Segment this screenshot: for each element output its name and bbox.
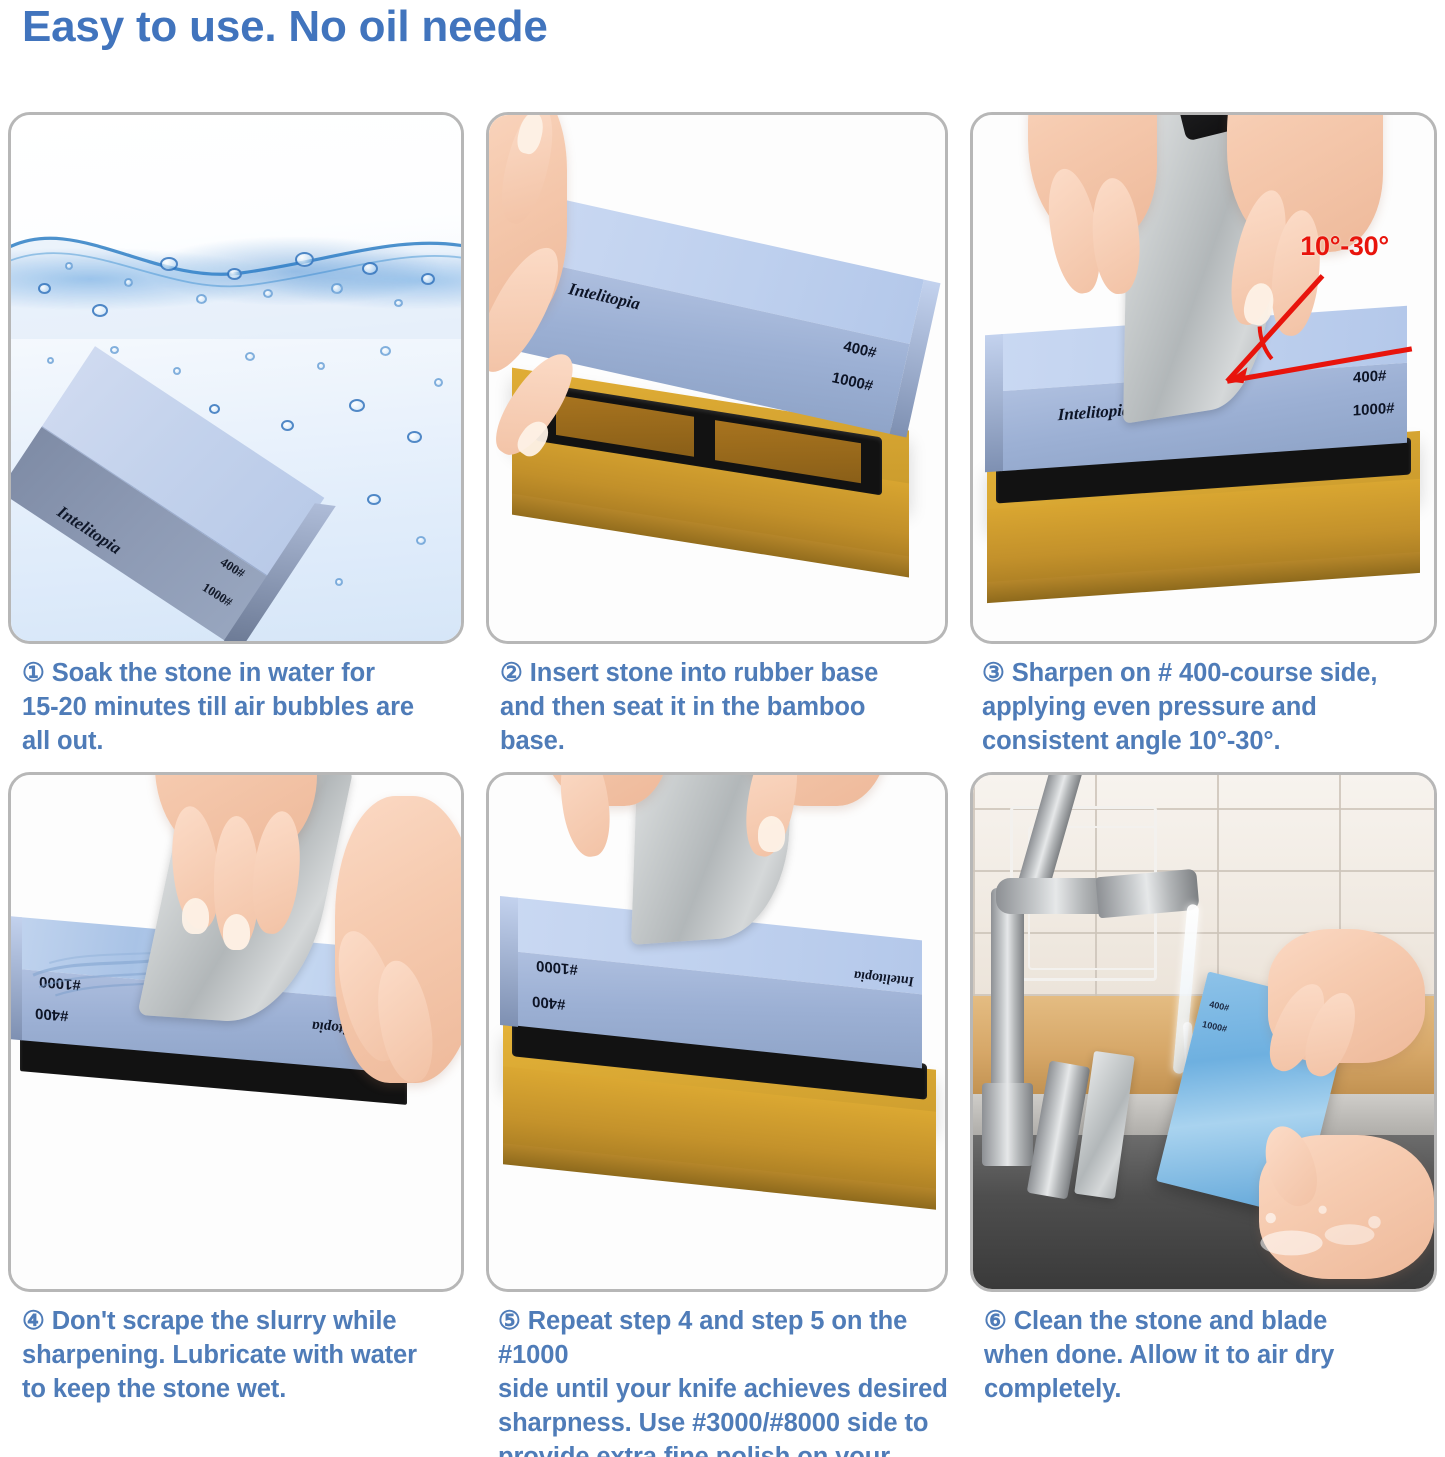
step-image-3: Intelitopia 400# 1000# [970,112,1437,644]
step-image-5: #1000 #400 Intelitopia [486,772,948,1292]
grit-coarse-label: #400 [533,992,566,1013]
step-caption-2: ② Insert stone into rubber base and then… [500,657,952,759]
page-title: Easy to use. No oil neede [22,2,548,52]
step-image-2: Intelitopia 400# 1000# [486,112,948,644]
sink-scene: 400# 1000# [973,775,1434,1289]
grit-fine-label: 1000# [1202,1019,1229,1034]
step-caption-3: ③ Sharpen on # 400-course side, applying… [982,657,1440,759]
step-card-4: #1000 #400 Intelitopia [8,772,464,1452]
step-card-2: Intelitopia 400# 1000# ② Insert stone in… [486,112,948,752]
grit-coarse-label: 400# [1209,999,1231,1013]
water-splash [1250,1176,1416,1279]
step-caption-1: ① Soak the stone in water for 15-20 minu… [22,657,474,759]
step-card-5: #1000 #400 Intelitopia ⑤ Repeat step 4 a… [486,772,948,1452]
stone-end-face [984,334,1002,472]
step-image-1: Intelitopia 400# 1000# [8,112,464,644]
stone-end-face [8,916,22,1041]
step-image-6: 400# 1000# [970,772,1437,1292]
step-image-4: #1000 #400 Intelitopia [8,772,464,1292]
step-caption-5: ⑤ Repeat step 4 and step 5 on the #1000 … [498,1305,974,1457]
step-card-6: 400# 1000# [970,772,1437,1452]
angle-label: 10°-30° [1300,231,1389,262]
step-card-1: Intelitopia 400# 1000# ① Soak the stone … [8,112,464,752]
angle-indicator [1213,262,1416,409]
infographic-page: Easy to use. No oil neede [0,0,1445,1457]
stone-end-face [500,896,518,1026]
step-caption-4: ④ Don't scrape the slurry while sharpeni… [22,1305,474,1407]
step-card-3: Intelitopia 400# 1000# [970,112,1437,752]
step-caption-6: ⑥ Clean the stone and blade when done. A… [984,1305,1436,1407]
